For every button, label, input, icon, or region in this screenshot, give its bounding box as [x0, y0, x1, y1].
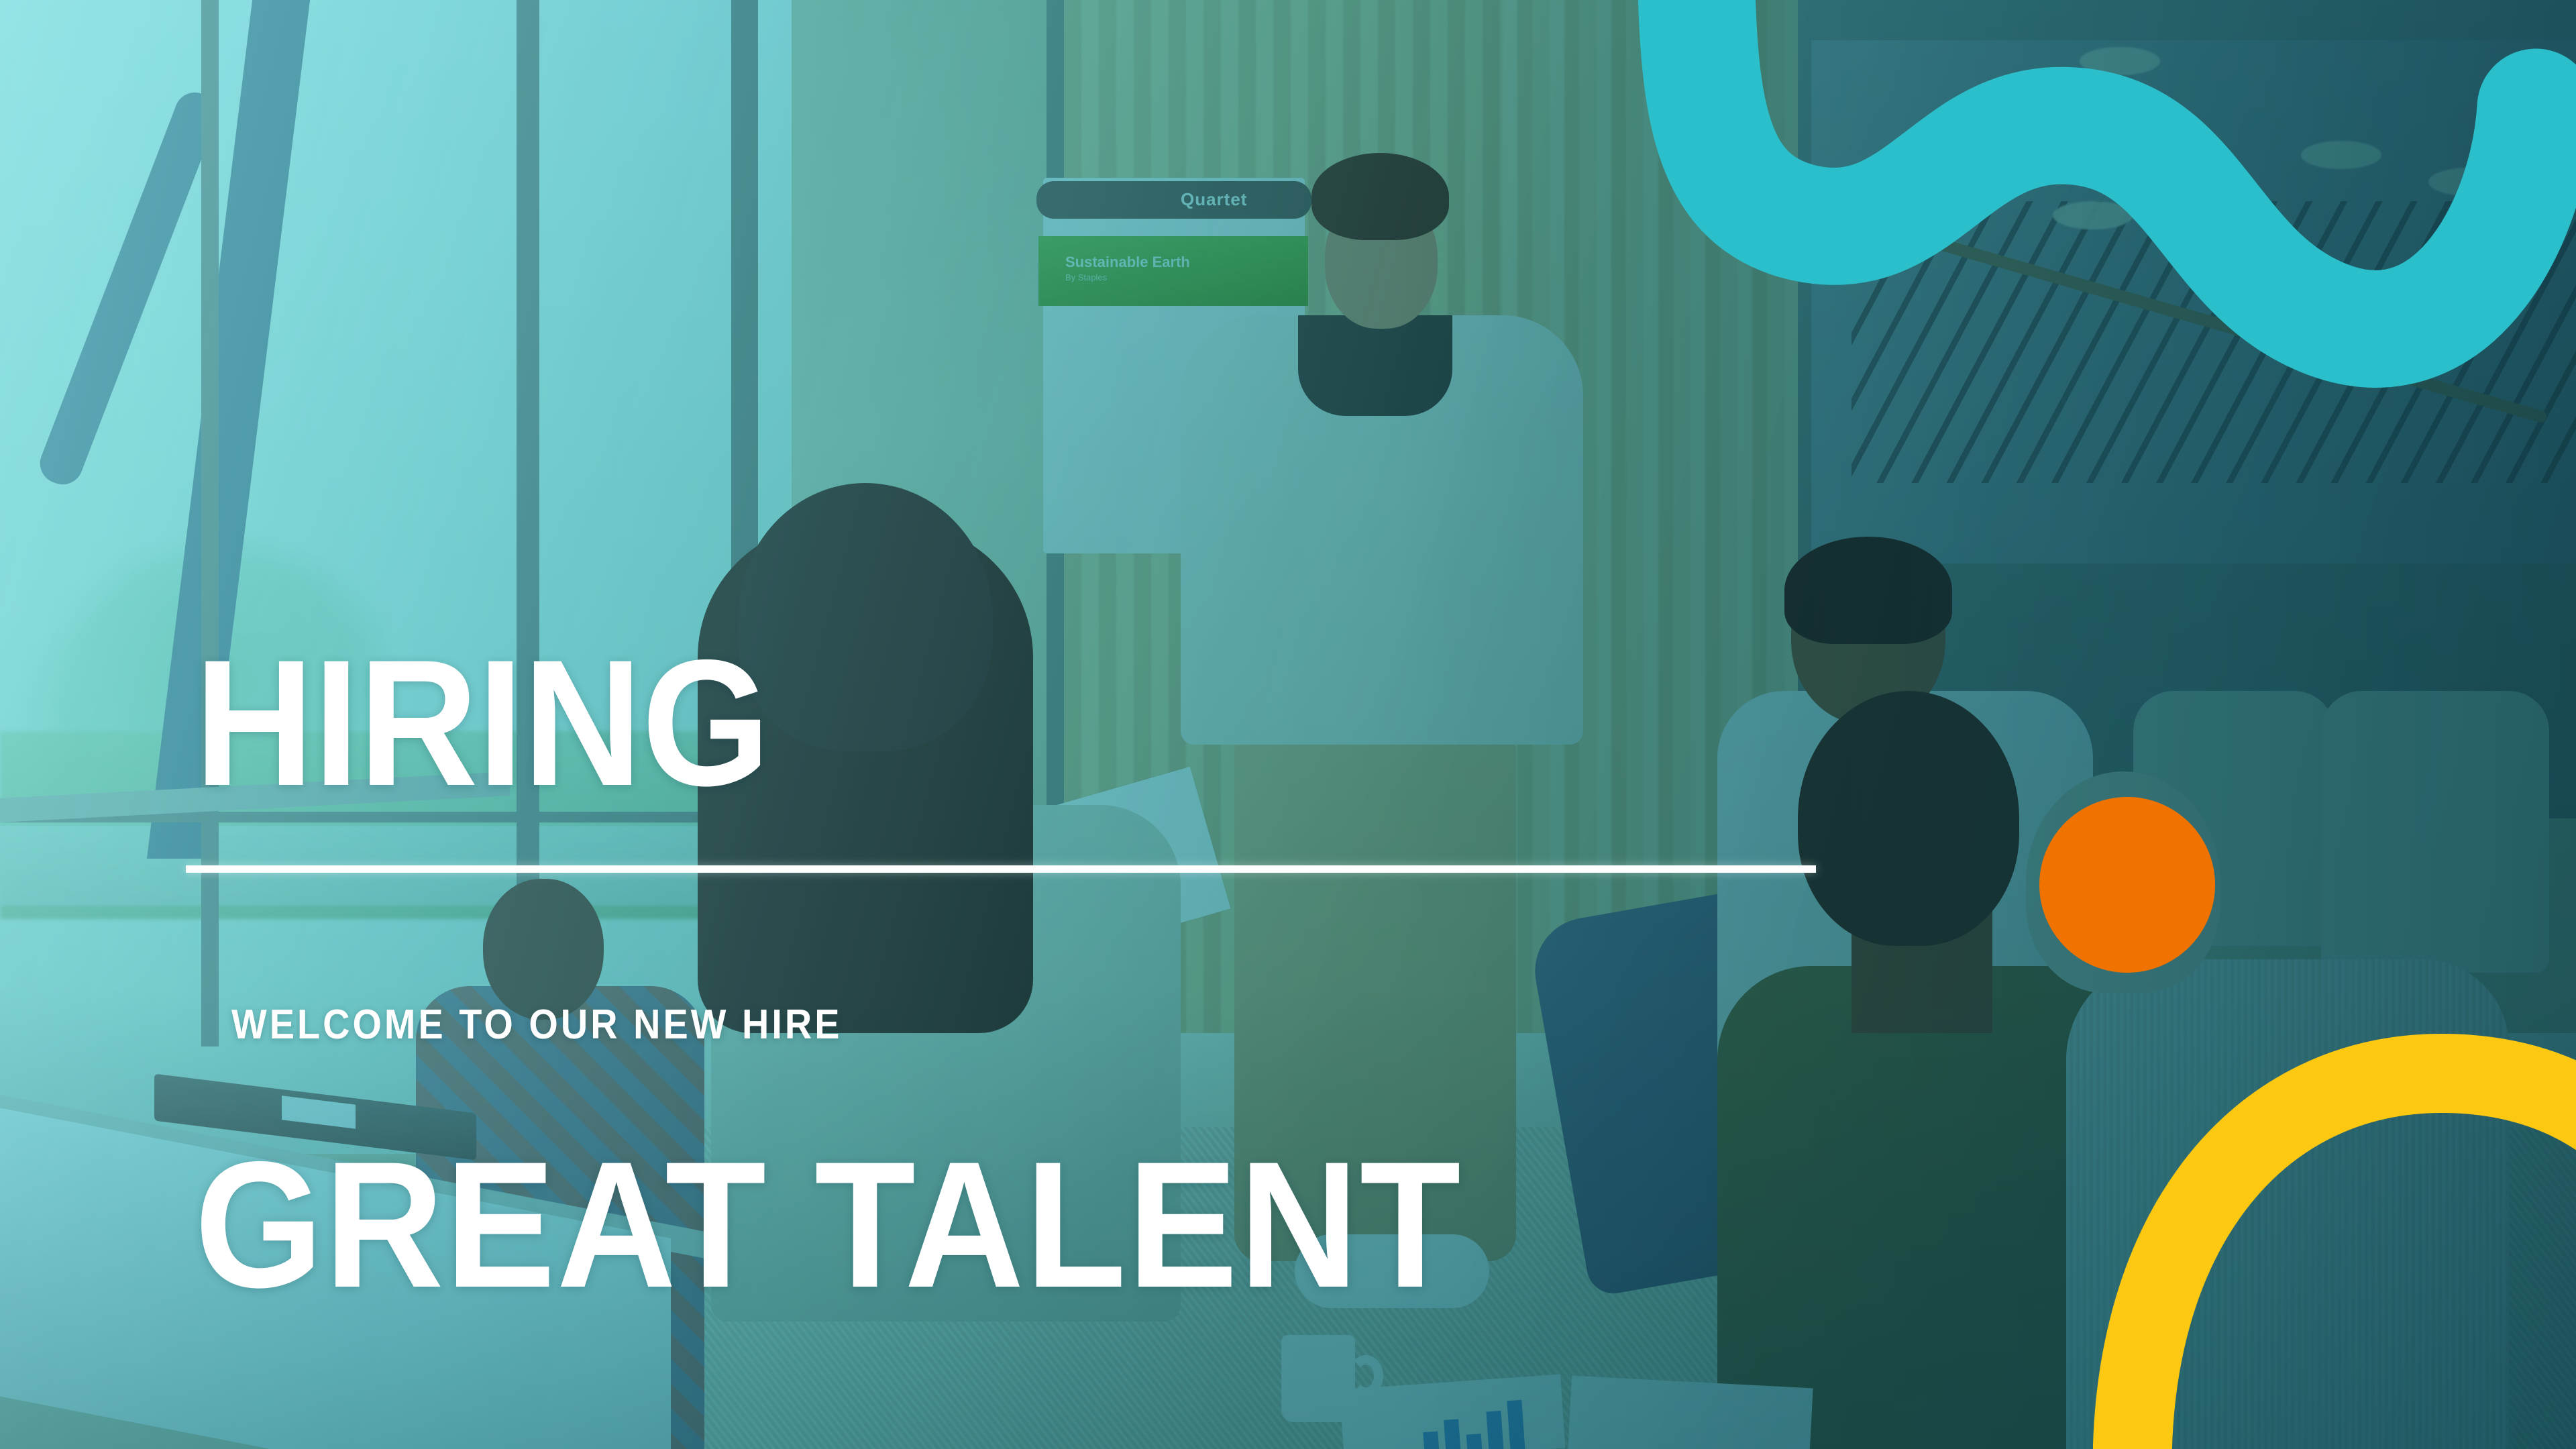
subtitle: WELCOME TO OUR NEW HIRE [231, 1001, 843, 1049]
title-line-2: GREAT TALENT [195, 1141, 1462, 1308]
banner-content: HIRING GREAT TALENT WELCOME TO OUR NEW H… [0, 0, 2576, 1449]
title-line-1: HIRING [195, 639, 1462, 806]
page-title: HIRING GREAT TALENT [195, 305, 1462, 1449]
hiring-banner: Quartet Sustainable Earth By Staples [0, 0, 2576, 1449]
title-divider [186, 865, 1816, 873]
